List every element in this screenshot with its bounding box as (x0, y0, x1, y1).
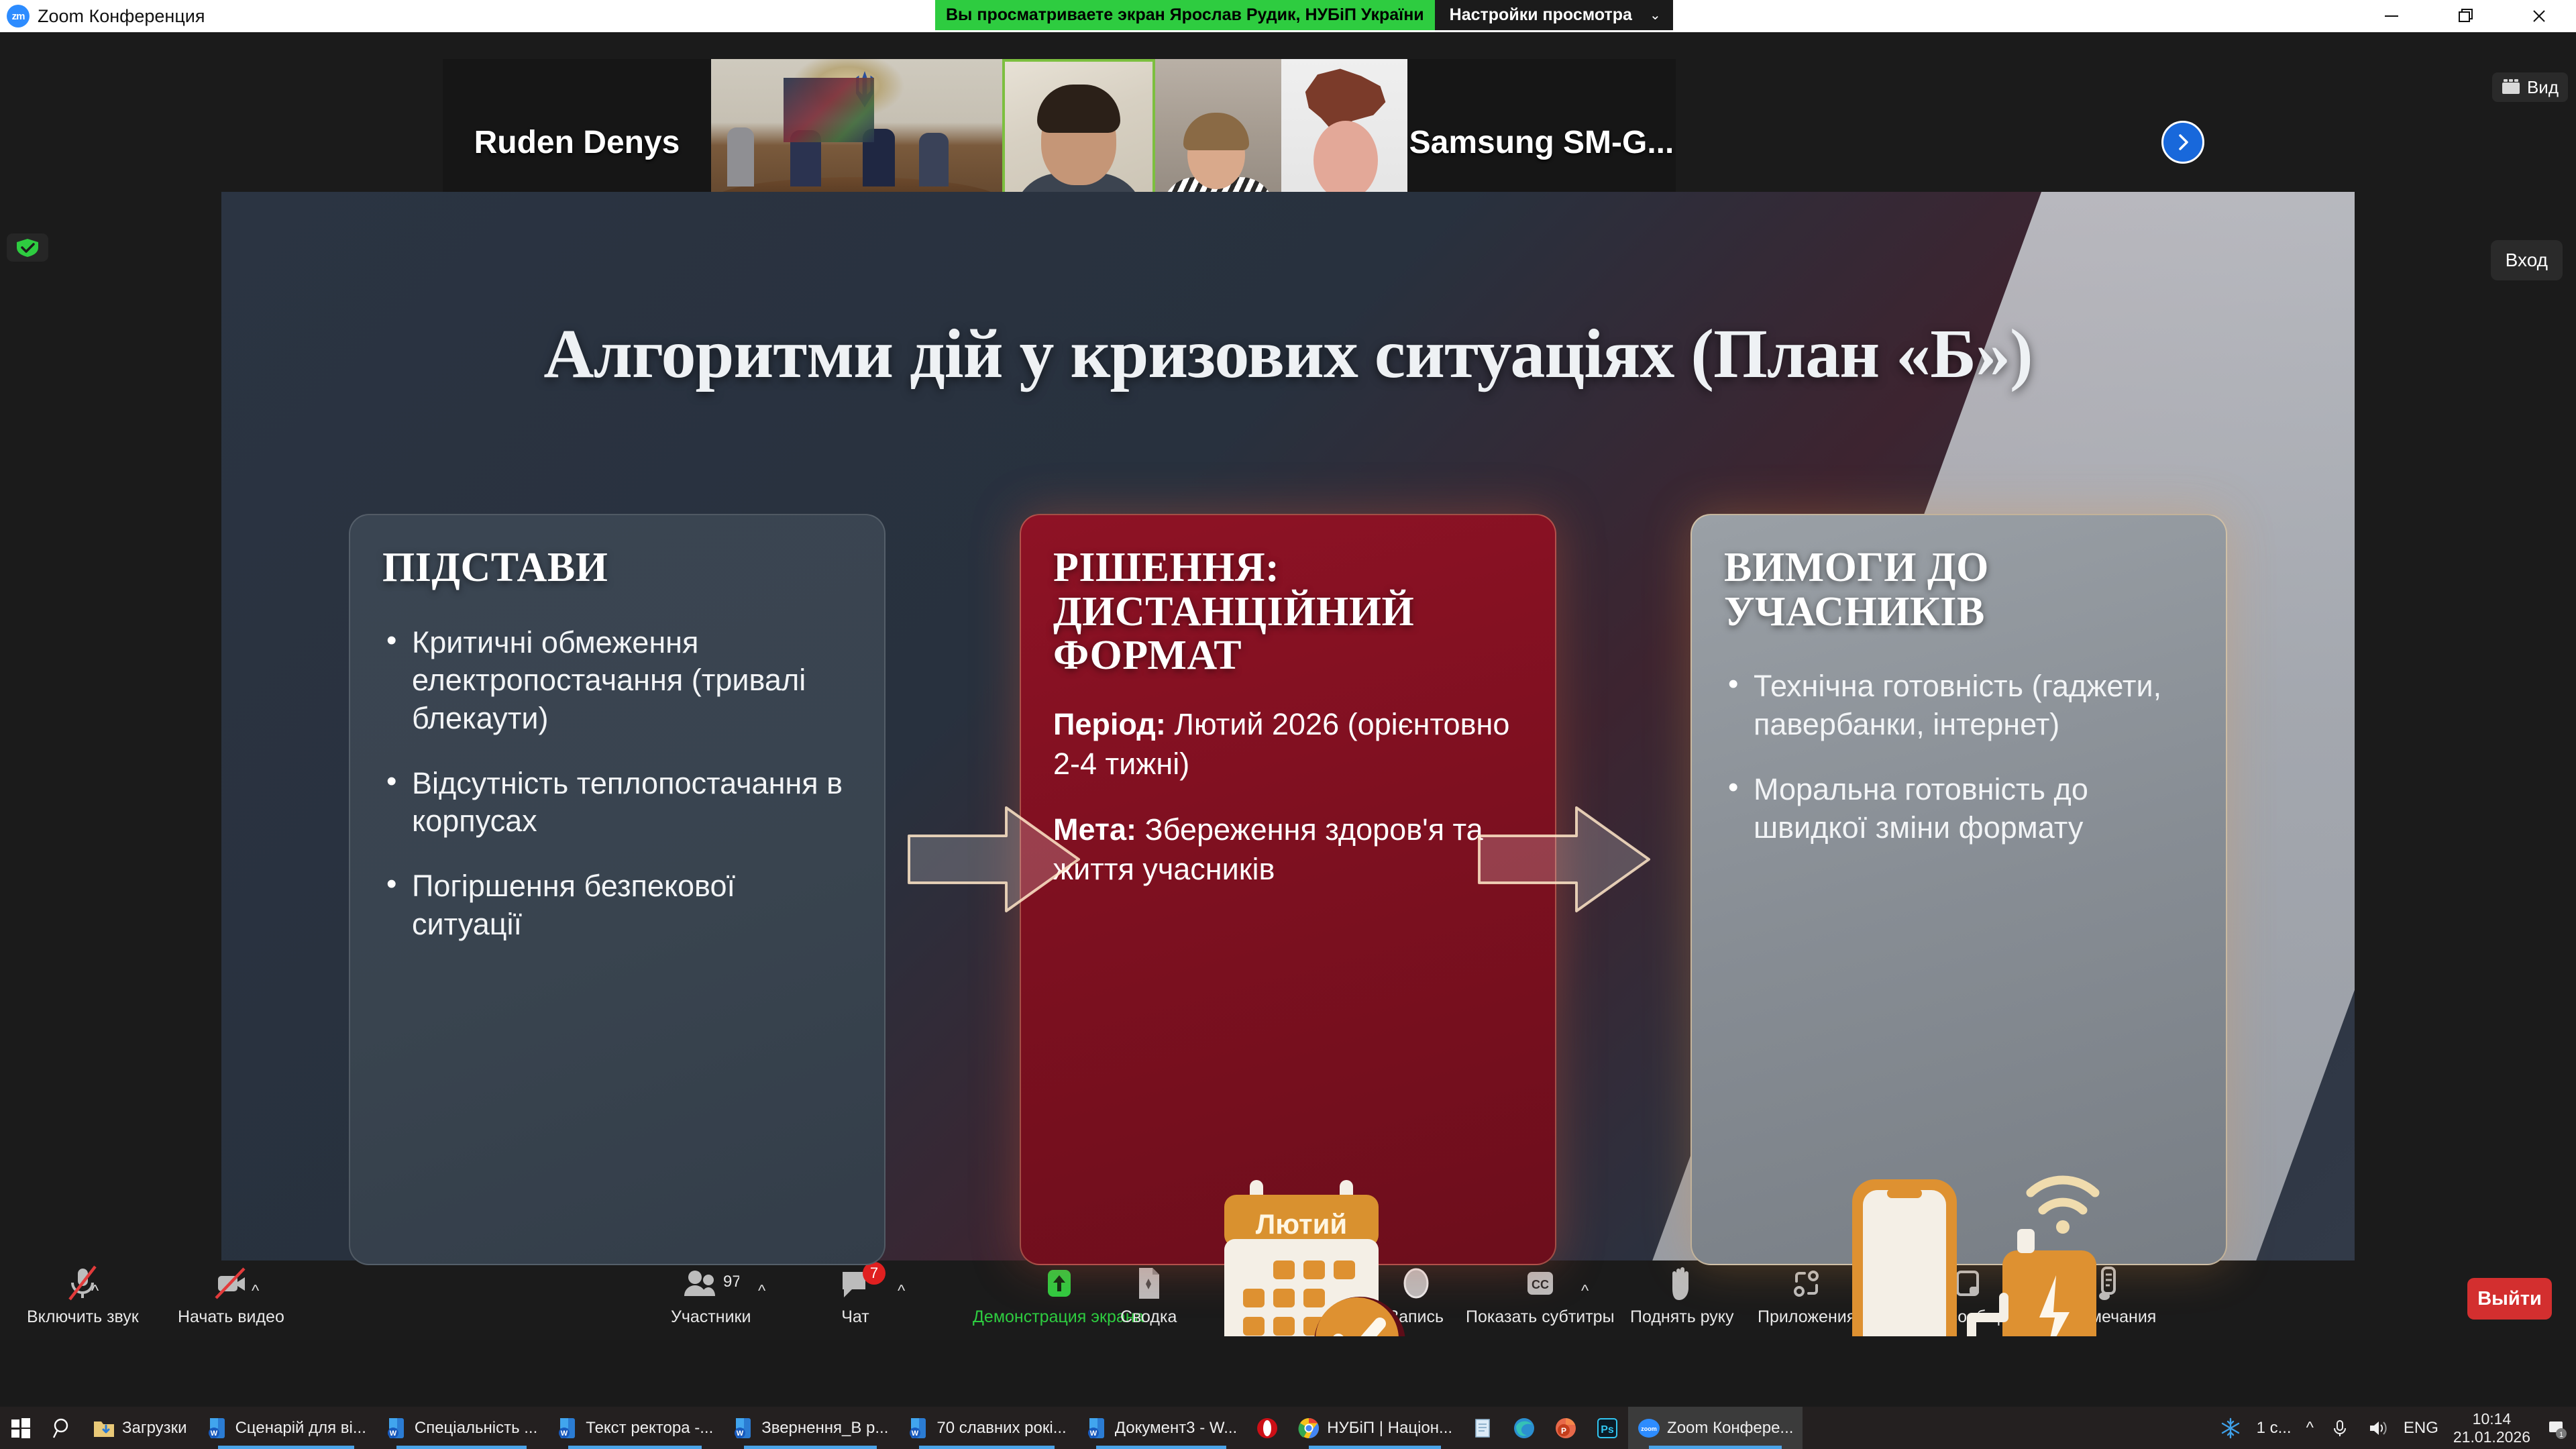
taskbar-item-word-3[interactable]: W Текст ректора -... (547, 1407, 722, 1449)
thumbnail-display-name: Samsung SM-G... (1409, 124, 1674, 161)
taskbar-item-label: Звернення_В р... (761, 1419, 888, 1438)
calendar-check-icon: Лютий (1197, 1175, 1432, 1336)
taskbar-item-label: НУБіП | Націон... (1327, 1419, 1452, 1438)
svg-text:1: 1 (2559, 1431, 2563, 1439)
taskbar-item-photoshop[interactable]: Ps (1587, 1407, 1628, 1449)
svg-text:W: W (1090, 1430, 1097, 1438)
card-heading: РІШЕННЯ: ДИСТАНЦІЙНИЙ ФОРМАТ (1053, 546, 1523, 678)
toolbar-participants-button[interactable]: 97 Участники ^ (671, 1265, 751, 1327)
person-shape (863, 129, 895, 186)
taskbar-item-label: Zoom Конфере... (1667, 1419, 1793, 1438)
search-icon (51, 1417, 74, 1440)
view-grid-icon (2502, 79, 2520, 95)
taskbar-item-powerpoint[interactable]: P (1545, 1407, 1587, 1449)
summary-doc-icon (1132, 1265, 1165, 1302)
toolbar-captions-button[interactable]: CC Показать субтитры ^ (1466, 1265, 1615, 1327)
shield-check-icon (14, 237, 41, 258)
phone-powerbank-illustration (1835, 1151, 2116, 1336)
card-pidstavy: ПІДСТАВИ Критичні обмеження електропоста… (349, 514, 885, 1265)
card-bullet: Моральна готовність до швидкої зміни фор… (1724, 771, 2194, 847)
taskbar-item-word-6[interactable]: W Документ3 - W... (1076, 1407, 1246, 1449)
card-bullet: Погіршення безпекової ситуації (382, 867, 852, 943)
svg-text:P: P (1561, 1426, 1566, 1436)
powerpoint-icon: P (1554, 1417, 1577, 1440)
view-button-label: Вид (2527, 77, 2559, 98)
tray-expand-chevron[interactable]: ^ (2306, 1419, 2314, 1438)
zoom-icon: zoom (1638, 1417, 1660, 1440)
audio-options-caret[interactable]: ^ (91, 1282, 99, 1301)
toolbar-chat-label: Чат (841, 1307, 869, 1327)
card-key-value: Період: Лютий 2026 (орієнтовно 2-4 тижні… (1053, 705, 1523, 784)
taskbar-item-label: Спеціальність ... (415, 1419, 537, 1438)
video-options-caret[interactable]: ^ (252, 1282, 259, 1301)
toolbar-raise-hand-button[interactable]: Поднять руку (1630, 1265, 1734, 1327)
tray-volume-icon[interactable] (2366, 1417, 2389, 1440)
view-button[interactable]: Вид (2492, 72, 2568, 102)
participants-count: 97 (723, 1273, 739, 1291)
person-hair-shape (1037, 85, 1120, 133)
toolbar-audio-button[interactable]: Включить звук ^ (27, 1265, 139, 1327)
thumbnail-display-name: Ruden Denys (474, 124, 680, 161)
next-participants-button[interactable] (2161, 121, 2204, 164)
snowflake-icon[interactable] (2219, 1417, 2242, 1440)
toolbar-chat-button[interactable]: 7 Чат ^ (839, 1265, 872, 1327)
svg-text:W: W (561, 1430, 568, 1438)
notification-icon[interactable]: 1 (2545, 1417, 2568, 1440)
chat-options-caret[interactable]: ^ (898, 1282, 905, 1301)
flow-arrow-2 (1476, 796, 1657, 923)
word-icon: W (1085, 1417, 1108, 1440)
ukraine-emblem-icon (853, 71, 876, 107)
toolbar-share-label: Демонстрация экрана (973, 1307, 1144, 1327)
taskbar-item-notepad[interactable] (1462, 1407, 1503, 1449)
windows-start-icon (9, 1417, 32, 1440)
window-title: Zoom Конференция (38, 6, 205, 27)
calendar-month-label: Лютий (1256, 1208, 1348, 1240)
taskbar-clock[interactable]: 10:14 21.01.2026 (2453, 1410, 2530, 1446)
card-bullet-list: Критичні обмеження електропостачання (тр… (382, 624, 852, 944)
close-button[interactable] (2502, 0, 2576, 32)
apps-icon (1790, 1265, 1823, 1302)
card-key: Період: (1053, 707, 1166, 741)
taskbar-item-label: Текст ректора -... (586, 1419, 713, 1438)
card-key-value: Мета: Збереження здоров'я та життя учасн… (1053, 810, 1523, 889)
person-hair-shape (1183, 113, 1249, 150)
taskbar-item-downloads[interactable]: Загрузки (83, 1407, 197, 1449)
taskbar-item-label: Документ3 - W... (1115, 1419, 1237, 1438)
toolbar-share-screen-button[interactable]: Демонстрация экрана (973, 1265, 1144, 1327)
toolbar-summary-button[interactable]: Сводка (1120, 1265, 1177, 1327)
arrow-right-icon (1476, 796, 1657, 923)
taskbar-item-word-2[interactable]: W Спеціальність ... (376, 1407, 547, 1449)
chevron-right-icon (2172, 131, 2194, 153)
word-icon: W (385, 1417, 408, 1440)
view-settings-label: Настройки просмотра (1450, 5, 1632, 25)
camera-off-icon (212, 1265, 250, 1302)
share-banner-message: Вы просматриваете экран Ярослав Рудик, Н… (935, 0, 1435, 30)
taskbar-search-button[interactable] (42, 1407, 83, 1449)
taskbar-item-chrome[interactable]: НУБіП | Націон... (1288, 1407, 1462, 1449)
card-bullet: Критичні обмеження електропостачання (тр… (382, 624, 852, 738)
shared-screen-slide: Алгоритми дій у кризових ситуаціях (План… (221, 192, 2355, 1336)
share-screen-icon (1041, 1265, 1076, 1302)
card-heading: ПІДСТАВИ (382, 546, 852, 590)
chat-bubble-icon: 7 (839, 1265, 872, 1302)
taskbar-item-zoom[interactable]: zoom Zoom Конфере... (1628, 1407, 1803, 1449)
svg-text:W: W (390, 1430, 397, 1438)
zoom-logo-icon: zm (7, 5, 30, 28)
taskbar-item-label: Сценарій для ві... (235, 1419, 366, 1438)
notepad-icon (1471, 1417, 1494, 1440)
edge-icon (1513, 1417, 1536, 1440)
taskbar-item-word-5[interactable]: W 70 славних рокі... (898, 1407, 1075, 1449)
chat-unread-badge: 7 (863, 1262, 885, 1285)
leave-meeting-button[interactable]: Выйти (2467, 1278, 2552, 1320)
svg-text:zoom: zoom (1641, 1426, 1657, 1432)
weather-temperature[interactable]: 1 с... (2257, 1419, 2292, 1438)
card-bullet-list: Технічна готовність (гаджети, павербанки… (1724, 667, 2194, 847)
arrow-right-icon (906, 796, 1087, 923)
view-settings-button[interactable]: Настройки просмотра ⌄ (1435, 0, 1673, 30)
screen-share-banner: Вы просматриваете экран Ярослав Рудик, Н… (935, 0, 1673, 30)
person-shape (919, 133, 949, 186)
folder-downloads-icon (93, 1417, 115, 1440)
toolbar-raise-hand-label: Поднять руку (1630, 1307, 1734, 1327)
captions-options-caret[interactable]: ^ (1581, 1282, 1589, 1301)
minimize-button[interactable] (2355, 0, 2428, 32)
flow-arrow-1 (906, 796, 1087, 923)
person-shape (790, 130, 821, 186)
card-bullet: Технічна готовність (гаджети, павербанки… (1724, 667, 2194, 743)
clock-date: 21.01.2026 (2453, 1428, 2530, 1446)
card-bullet: Відсутність теплопостачання в корпусах (382, 765, 852, 841)
toolbar-captions-label: Показать субтитры (1466, 1307, 1615, 1327)
word-icon: W (206, 1417, 229, 1440)
toolbar-video-button[interactable]: Начать видео ^ (178, 1265, 284, 1327)
cc-icon: CC (1522, 1265, 1558, 1302)
toolbar-audio-label: Включить звук (27, 1307, 139, 1327)
photoshop-icon: Ps (1596, 1417, 1619, 1440)
person-head-shape (1313, 121, 1378, 200)
toolbar-participants-label: Участники (671, 1307, 751, 1327)
opera-icon (1256, 1417, 1279, 1440)
taskbar-item-word-4[interactable]: W Звернення_В р... (722, 1407, 898, 1449)
taskbar-item-word-1[interactable]: W Сценарій для ві... (197, 1407, 376, 1449)
participants-icon: 97 (683, 1265, 739, 1302)
phone-powerbank-wifi-icon (1835, 1151, 2116, 1336)
svg-text:Ps: Ps (1601, 1424, 1614, 1436)
chrome-icon (1297, 1417, 1320, 1440)
toolbar-summary-label: Сводка (1120, 1307, 1177, 1327)
svg-text:W: W (210, 1430, 217, 1438)
calendar-check-illustration: Лютий (1197, 1175, 1432, 1336)
slide-title: Алгоритми дій у кризових ситуаціях (План… (221, 314, 2355, 394)
wifi-icon (2031, 1180, 2095, 1210)
svg-text:W: W (737, 1430, 744, 1438)
person-shape (727, 127, 754, 186)
raise-hand-icon (1667, 1265, 1697, 1302)
participants-options-caret[interactable]: ^ (758, 1282, 765, 1301)
word-icon: W (556, 1417, 579, 1440)
enter-button[interactable]: Вход (2491, 240, 2563, 280)
windows-taskbar: Загрузки W Сценарій для ві... W Спеціаль… (0, 1407, 2576, 1449)
taskbar-item-edge[interactable] (1503, 1407, 1545, 1449)
maximize-button[interactable] (2428, 0, 2502, 32)
zoom-meeting-body: Ruden Denys Ruden Denys Національний Уні… (0, 32, 2576, 1340)
word-icon: W (907, 1417, 930, 1440)
clock-time: 10:14 (2473, 1410, 2512, 1428)
svg-text:W: W (912, 1430, 919, 1438)
start-button[interactable] (0, 1407, 42, 1449)
chevron-down-icon: ⌄ (1650, 7, 1661, 23)
taskbar-item-label: 70 славних рокі... (936, 1419, 1066, 1438)
word-icon: W (732, 1417, 755, 1440)
card-heading: ВИМОГИ ДО УЧАСНИКІВ (1724, 546, 2194, 634)
system-tray: 1 с... ^ ENG 10:14 21.01.2026 1 (2219, 1410, 2576, 1446)
encryption-shield-indicator[interactable] (7, 233, 48, 262)
svg-text:CC: CC (1532, 1278, 1549, 1291)
enter-button-label: Вход (2506, 250, 2548, 271)
tray-mic-icon[interactable] (2328, 1417, 2351, 1440)
input-language[interactable]: ENG (2404, 1419, 2438, 1438)
toolbar-video-label: Начать видео (178, 1307, 284, 1327)
taskbar-item-opera[interactable] (1246, 1407, 1288, 1449)
taskbar-item-label: Загрузки (122, 1419, 187, 1438)
